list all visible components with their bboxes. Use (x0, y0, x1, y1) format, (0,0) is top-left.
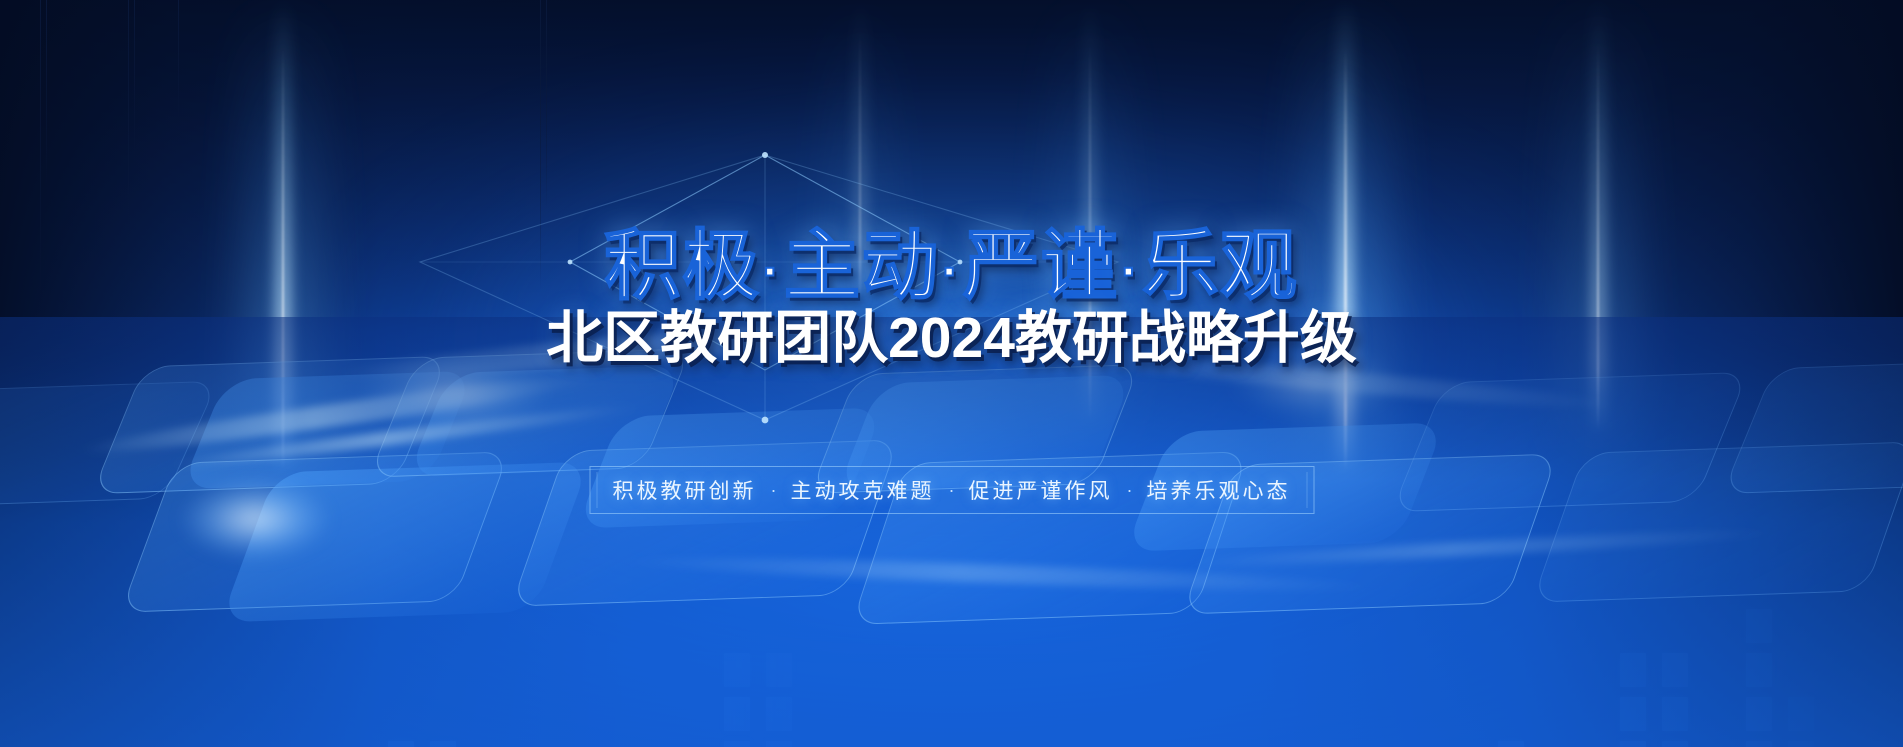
slogan-separator-1: · (771, 480, 777, 501)
slogan-item-4: 培养乐观心态 (1147, 475, 1291, 505)
title-part-1: 积极 (605, 224, 761, 309)
banner-content: 积极·主动·严谨·乐观 北区教研团队2024教研战略升级 积极教研创新 · 主动… (0, 0, 1903, 747)
slogan-item-3: 促进严谨作风 (969, 475, 1113, 505)
title-separator-1: · (761, 243, 784, 301)
title-part-2: 主动 (784, 224, 940, 309)
title-separator-2: · (940, 243, 963, 301)
slogan-separator-2: · (949, 480, 955, 501)
banner-root: 积极·主动·严谨·乐观 北区教研团队2024教研战略升级 积极教研创新 · 主动… (0, 0, 1903, 747)
title-part-4: 乐观 (1142, 224, 1298, 309)
slogan-separator-3: · (1127, 480, 1133, 501)
title-part-3: 严谨 (963, 224, 1119, 309)
title-separator-3: · (1119, 243, 1142, 301)
slogan-item-2: 主动攻克难题 (791, 475, 935, 505)
slogan-item-1: 积极教研创新 (613, 475, 757, 505)
page-subtitle: 北区教研团队2024教研战略升级 (0, 310, 1903, 367)
slogan-bar: 积极教研创新 · 主动攻克难题 · 促进严谨作风 · 培养乐观心态 (589, 466, 1314, 514)
page-title: 积极·主动·严谨·乐观 (0, 229, 1903, 305)
slogan-text-row: 积极教研创新 · 主动攻克难题 · 促进严谨作风 · 培养乐观心态 (589, 466, 1314, 514)
